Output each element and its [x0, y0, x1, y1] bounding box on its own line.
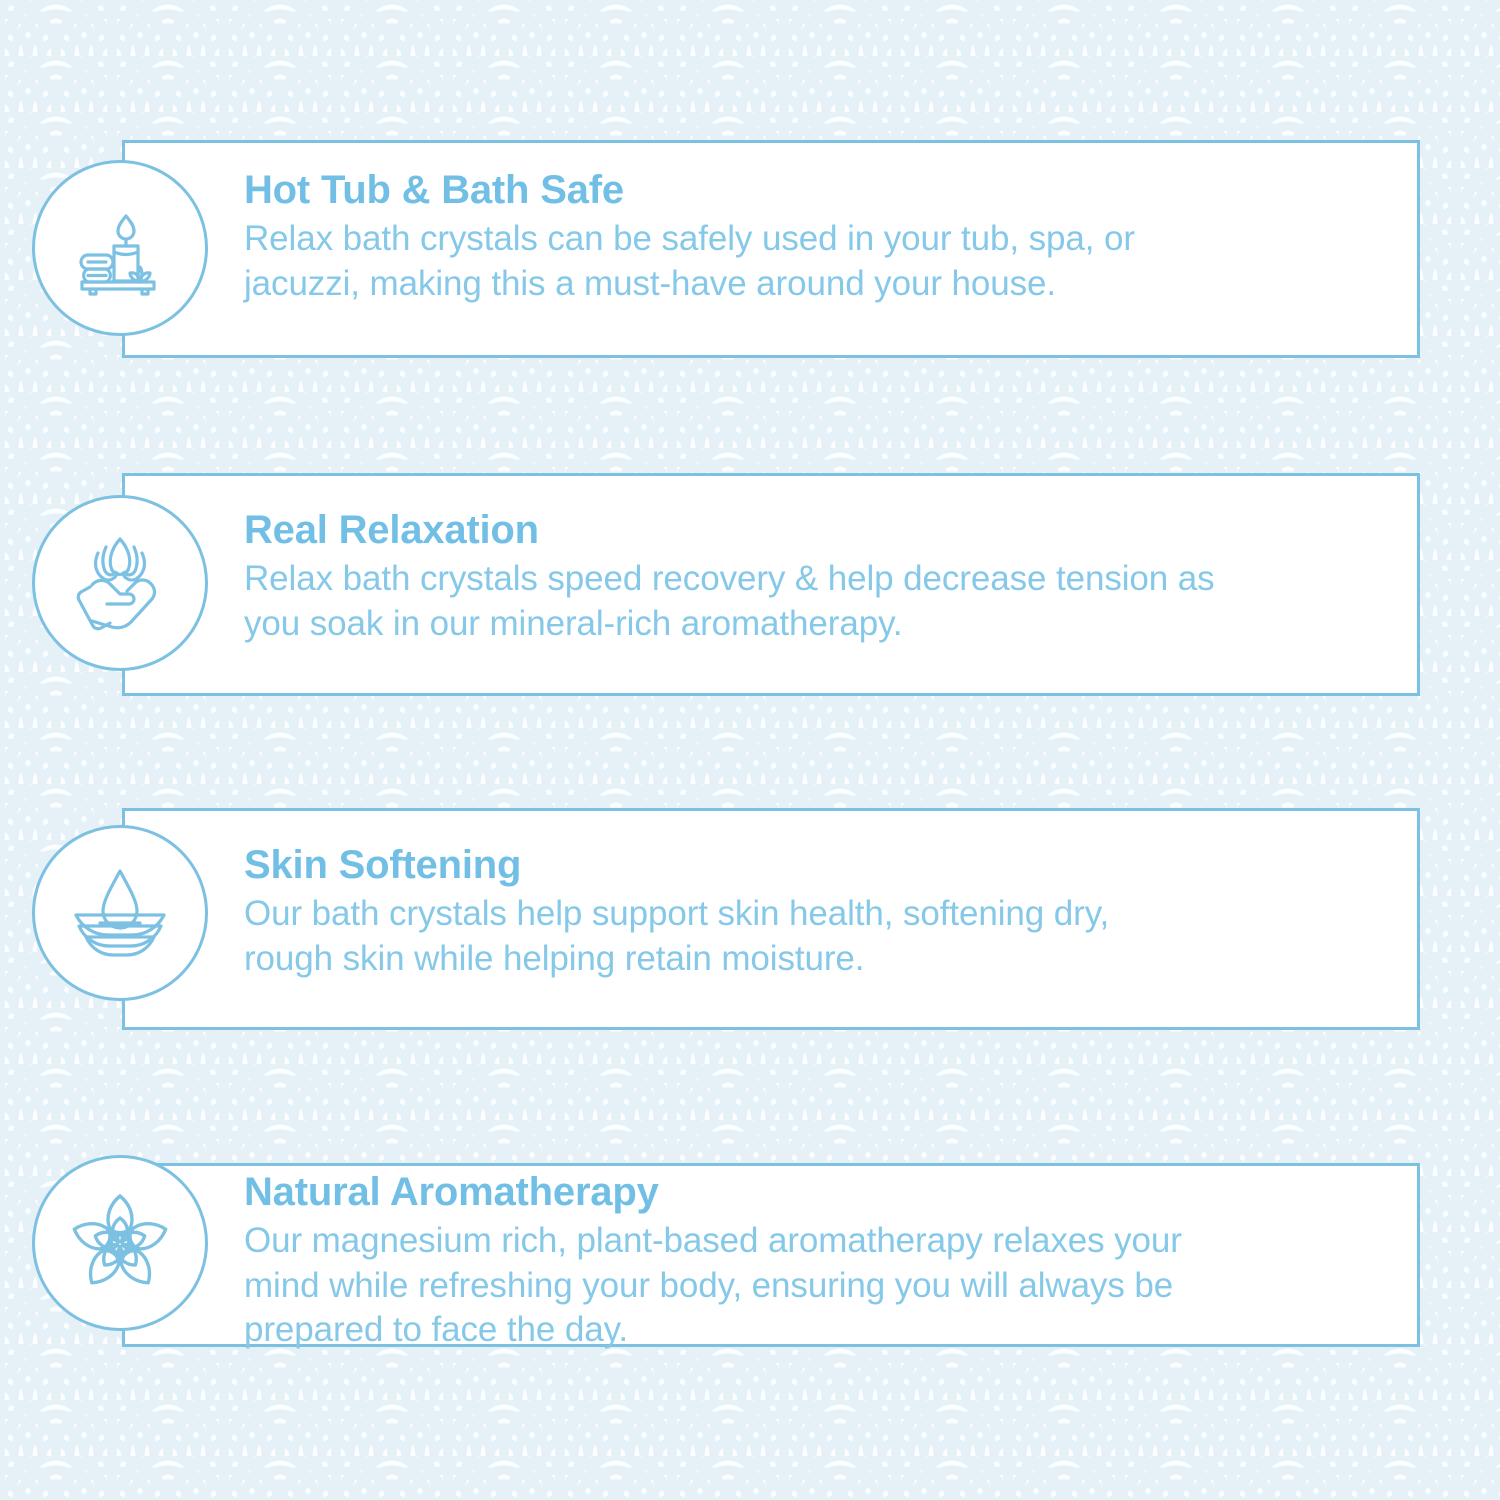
feature-description-4-line-2: mind while refreshing your body, ensurin…: [244, 1264, 1404, 1309]
five-petal-flower-icon: [61, 1184, 179, 1302]
feature-text-4: Natural Aromatherapy Our magnesium rich,…: [244, 1170, 1404, 1353]
feature-title-4: Natural Aromatherapy: [244, 1170, 1404, 1215]
feature-row-4: Natural Aromatherapy Our magnesium rich,…: [0, 0, 1500, 1420]
feature-icon-badge-4: [32, 1155, 208, 1331]
feature-description-4: Our magnesium rich, plant-based aromathe…: [244, 1219, 1404, 1353]
feature-description-4-line-3: prepared to face the day.: [244, 1308, 1404, 1353]
feature-panel-page: Hot Tub & Bath Safe Relax bath crystals …: [0, 0, 1500, 1500]
feature-description-4-line-1: Our magnesium rich, plant-based aromathe…: [244, 1219, 1404, 1264]
